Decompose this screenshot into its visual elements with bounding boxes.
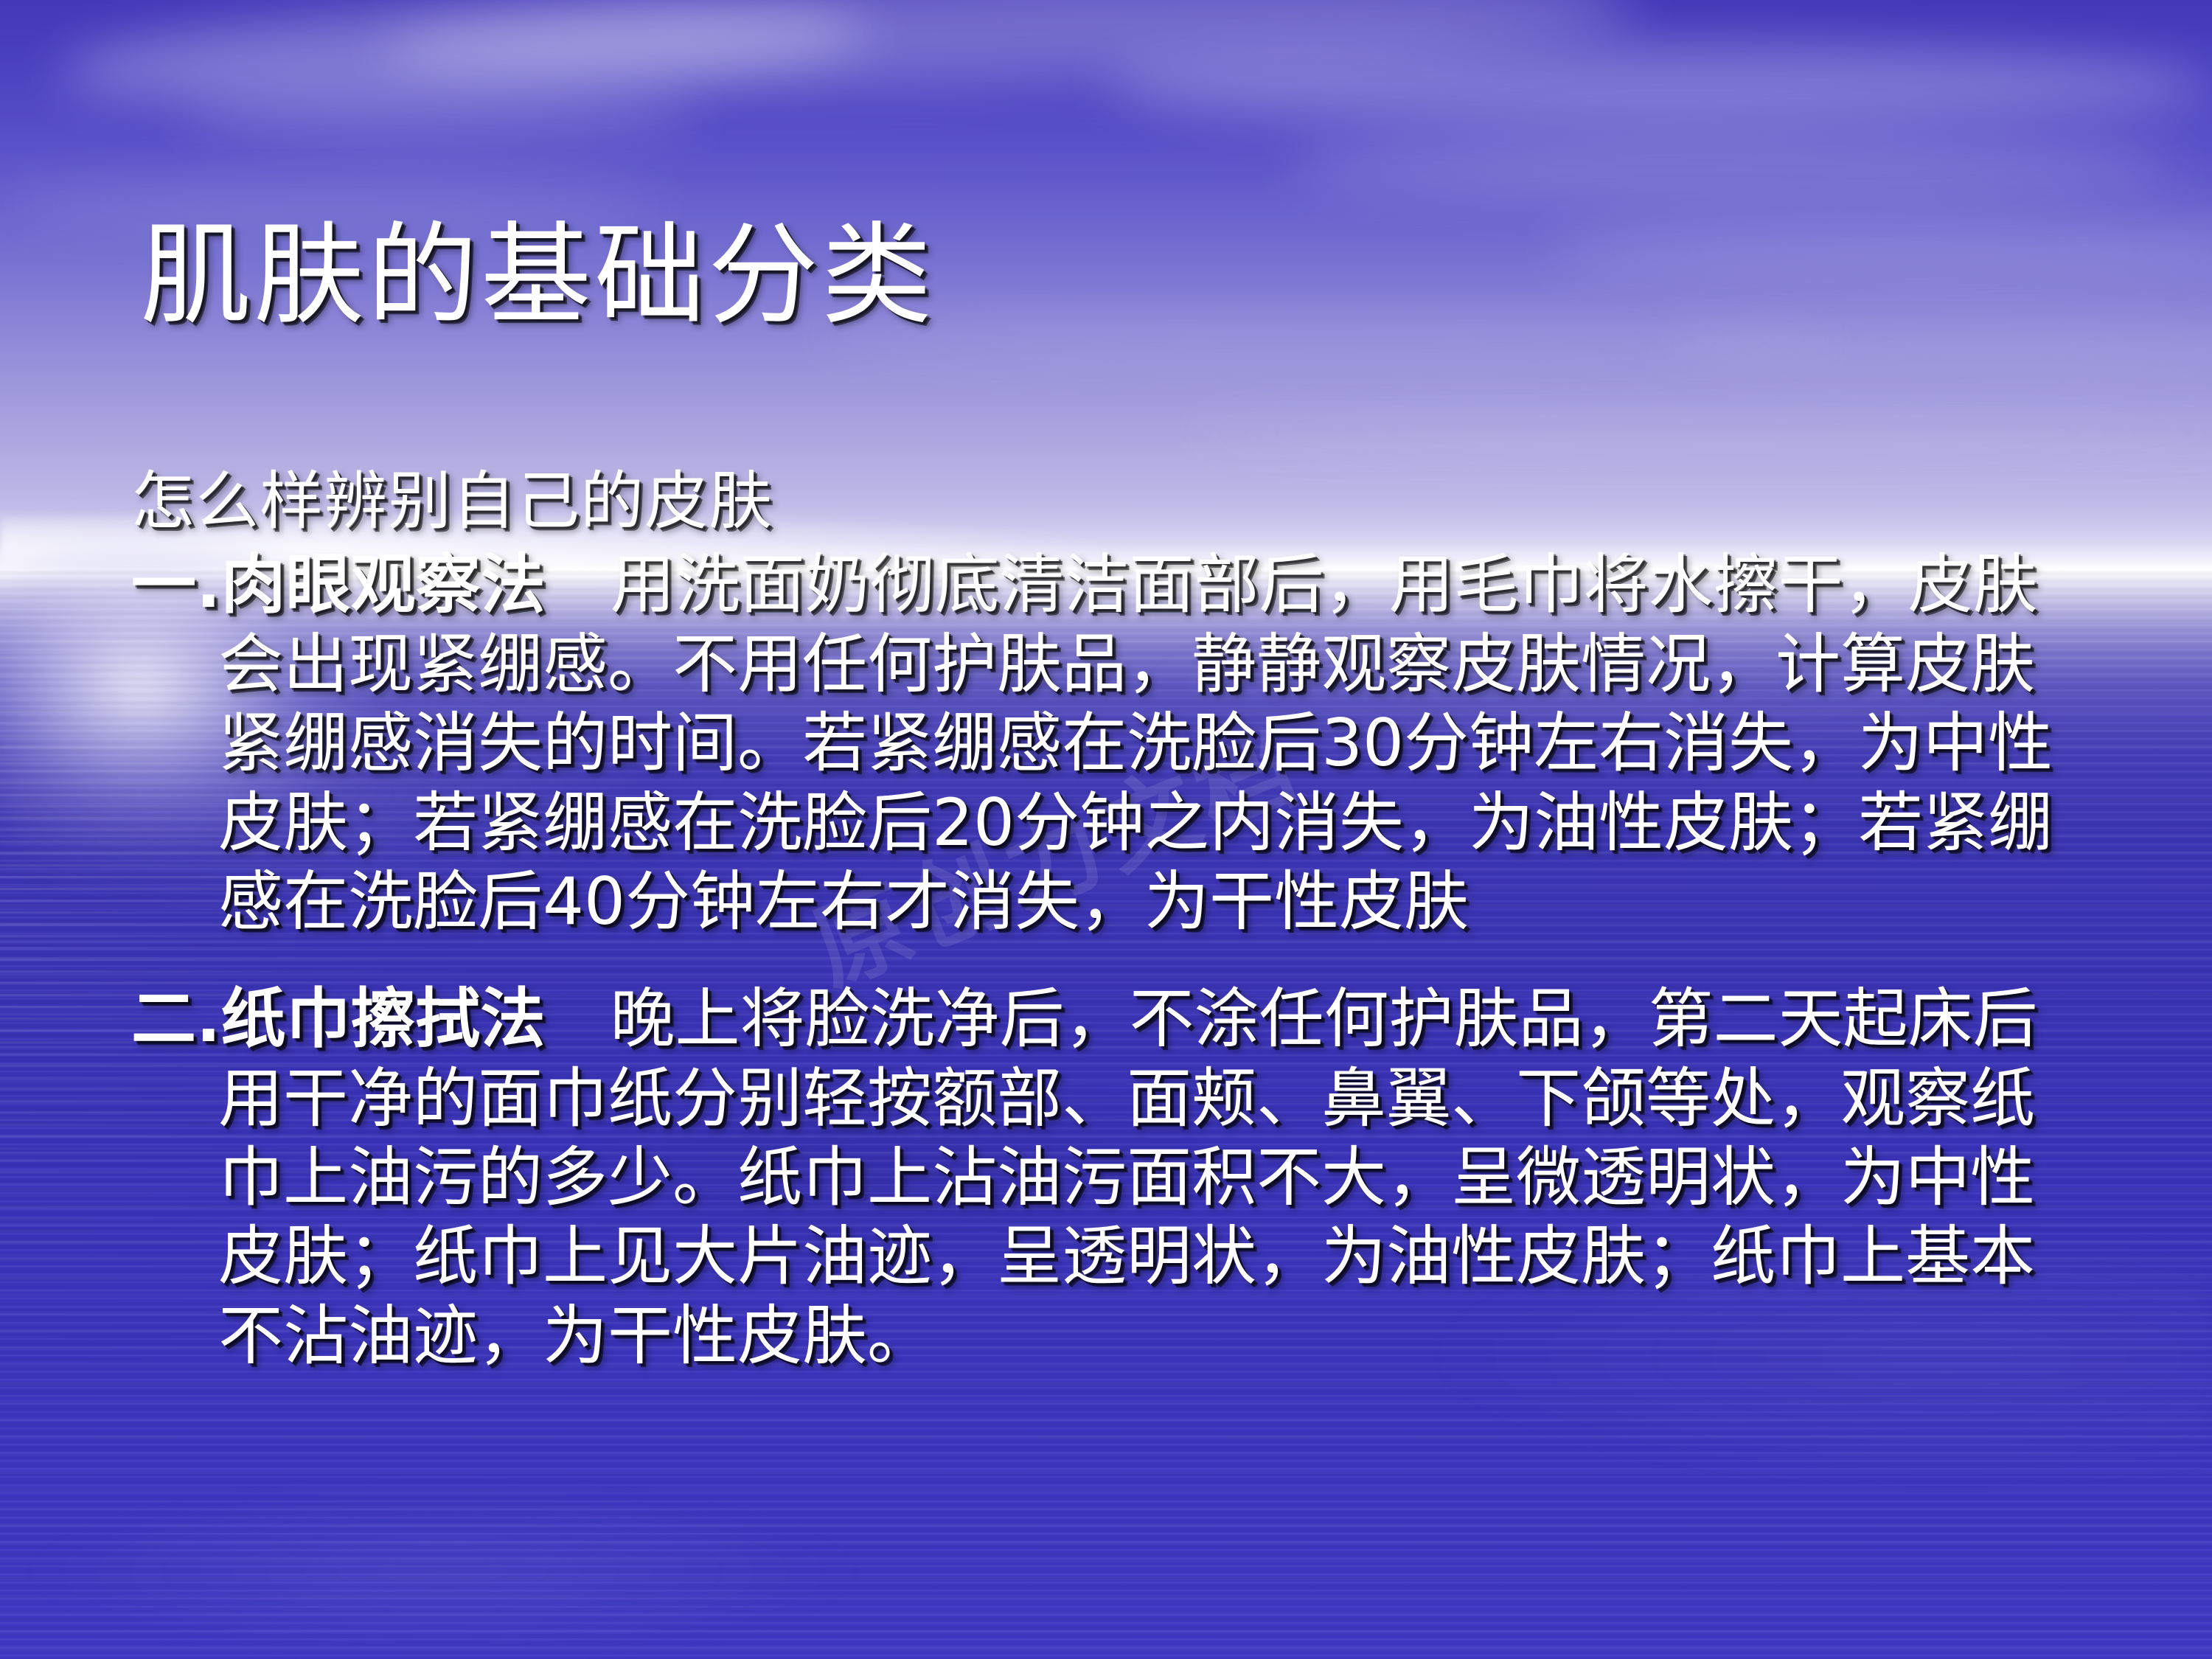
list-item-heading: 肉眼观察法 <box>220 546 545 622</box>
page-title: 肌肤的基础分类 <box>140 218 935 335</box>
body-subtitle: 怎么样辨别自己的皮肤 <box>131 465 2078 539</box>
list-item-marker: 二. <box>131 981 220 1057</box>
cloud-wisp-icon <box>184 88 700 140</box>
slide-body: 怎么样辨别自己的皮肤 一.肉眼观察法 用洗面奶彻底清洁面部后，用毛巾将水擦干，皮… <box>131 465 2078 1375</box>
cloud-wisp-icon <box>1106 44 2212 125</box>
list-item-heading: 纸巾擦拭法 <box>220 981 545 1057</box>
list-item: 二.纸巾擦拭法 晚上将脸洗净后，不涂任何护肤品，第二天起床后用干净的面巾纸分别轻… <box>131 979 2078 1375</box>
cloud-wisp-icon <box>1290 133 2175 199</box>
list-item: 一.肉眼观察法 用洗面奶彻底清洁面部后，用毛巾将水擦干，皮肤会出现紧绷感。不用任… <box>131 545 2078 941</box>
presentation-slide: 原创力文档 肌肤的基础分类 怎么样辨别自己的皮肤 一.肉眼观察法 用洗面奶彻底清… <box>0 0 2212 1659</box>
list-item-marker: 一. <box>131 546 220 622</box>
cloud-wisp-icon <box>811 317 1843 361</box>
